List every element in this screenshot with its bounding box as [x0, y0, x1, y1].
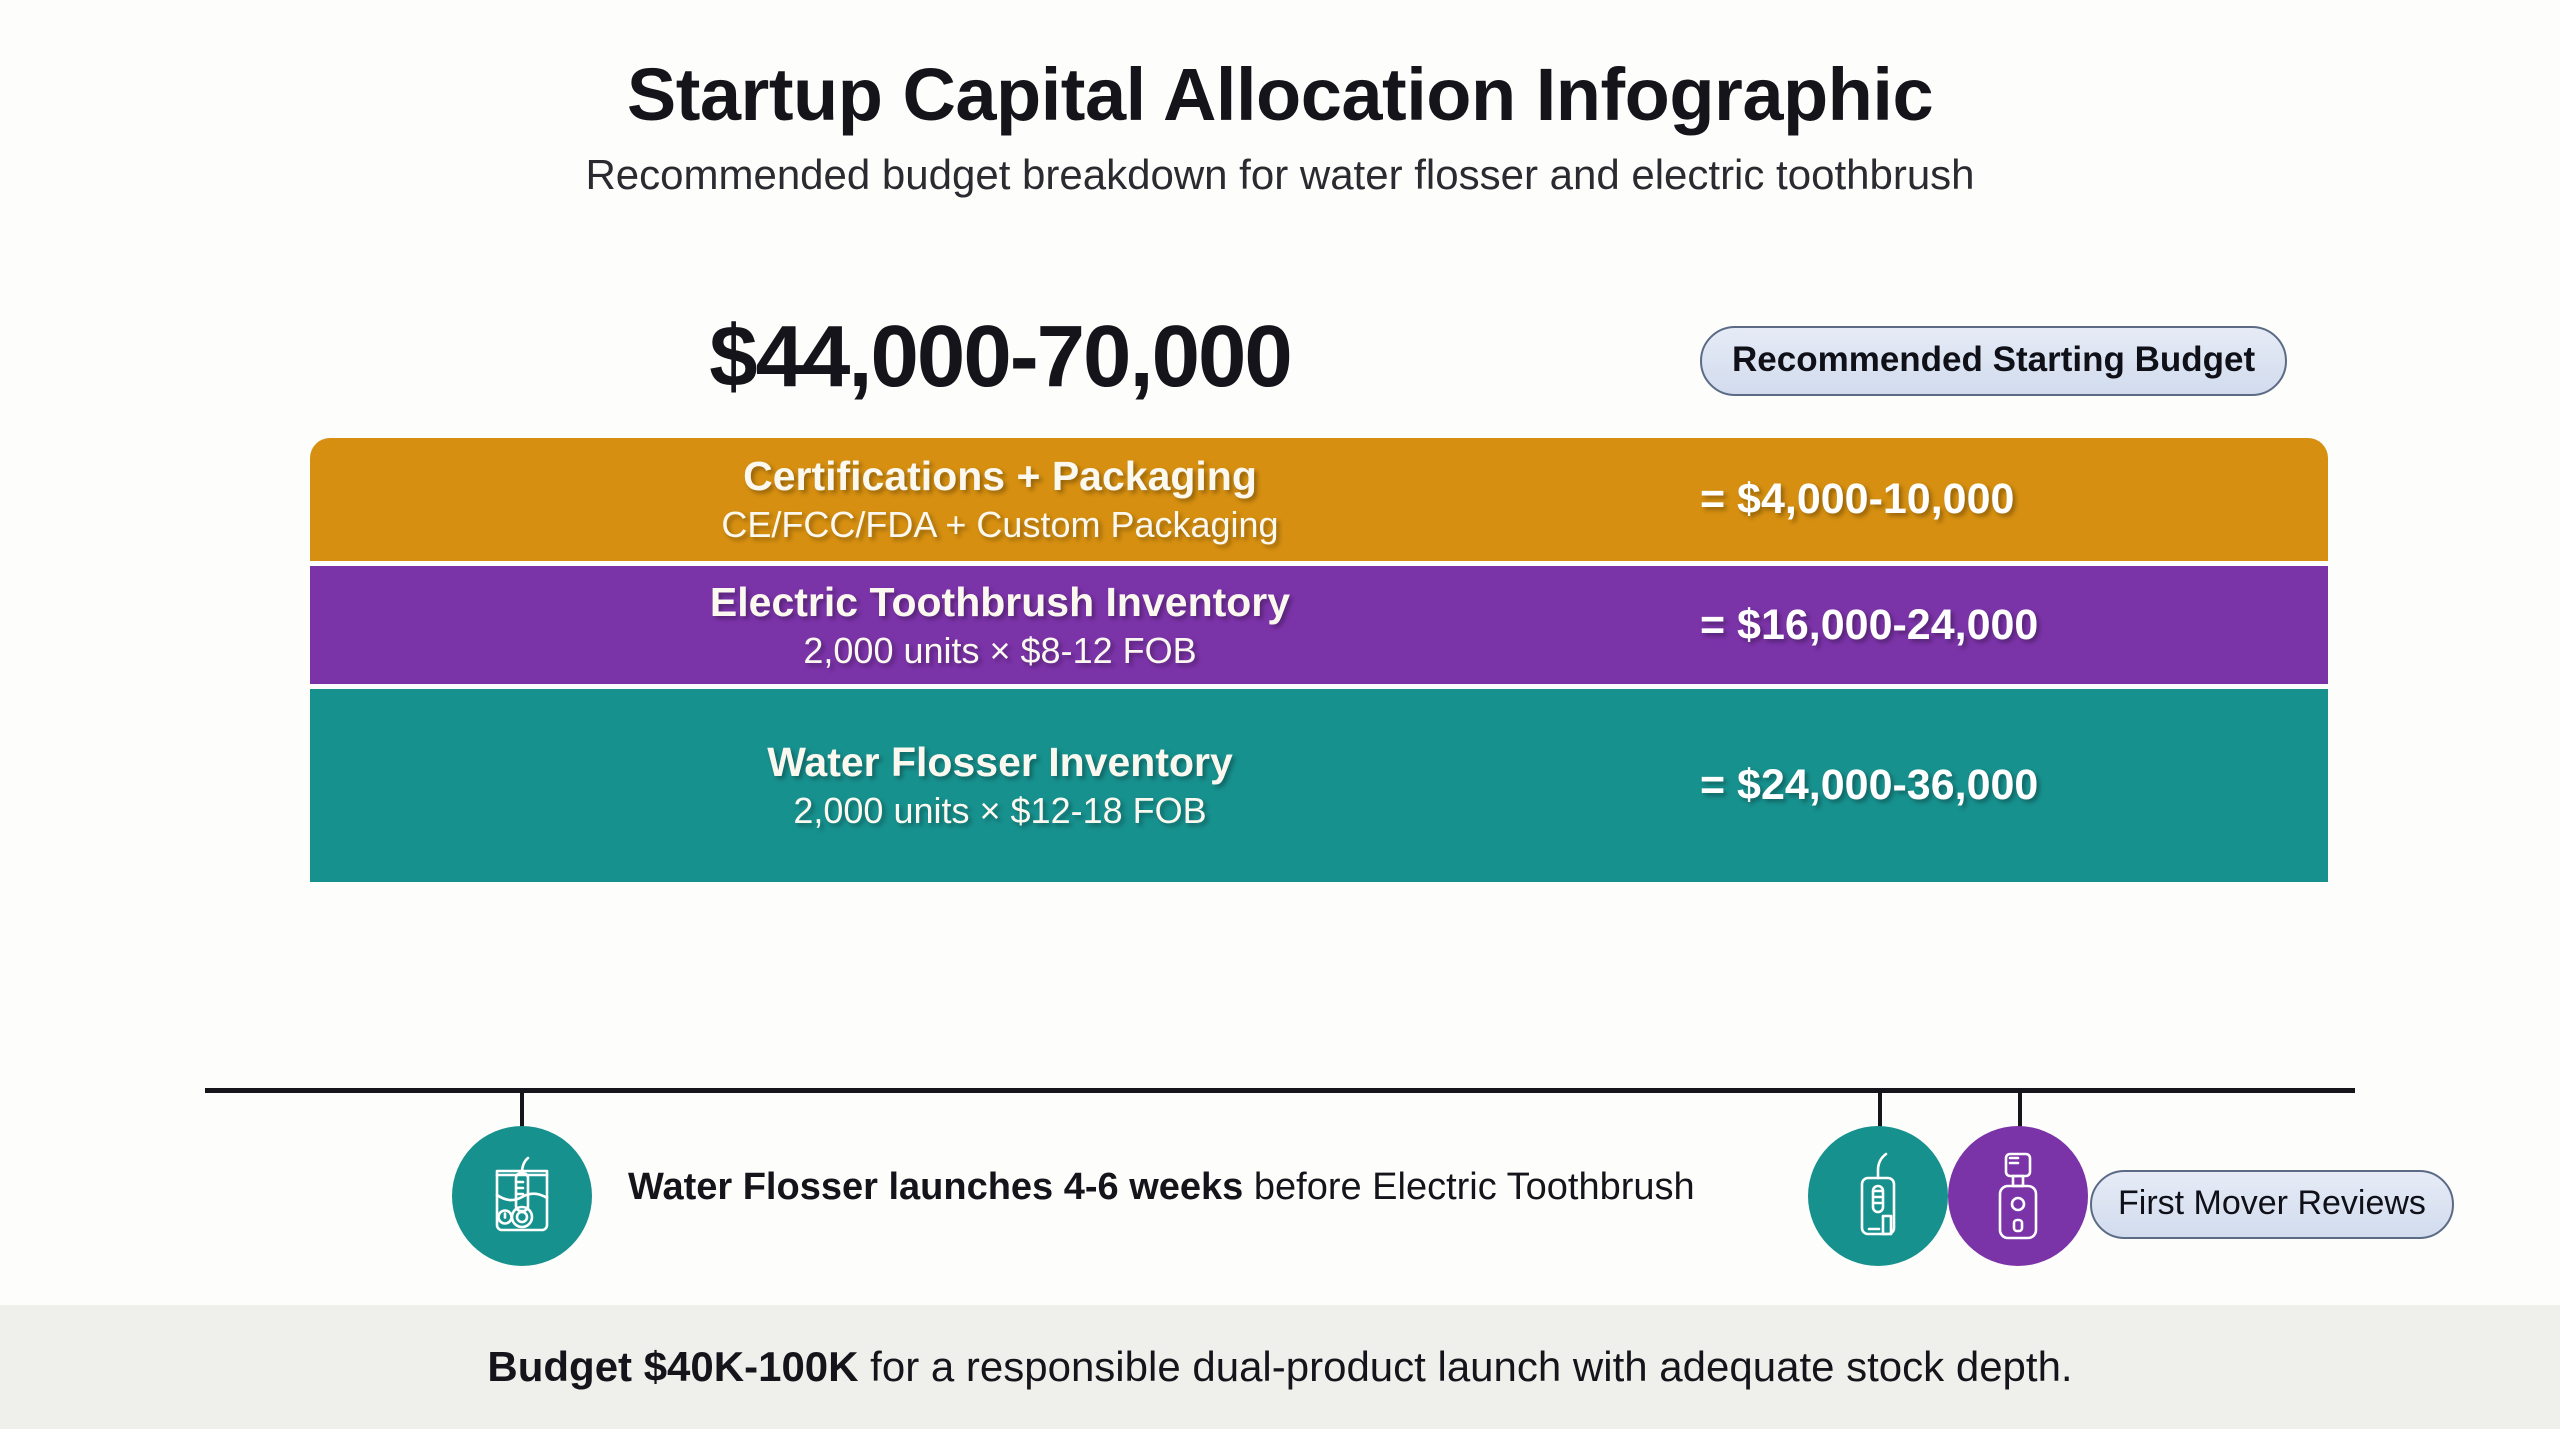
headline-row: $44,000-70,000 Recommended Starting Budg…: [310, 315, 2328, 420]
node-water-flosser-cordless[interactable]: [1808, 1126, 1948, 1266]
first-mover-reviews-badge: First Mover Reviews: [2090, 1170, 2454, 1239]
timeline-tick-water-flosser: [520, 1090, 524, 1128]
recommended-starting-budget-badge: Recommended Starting Budget: [1700, 326, 2287, 396]
timeline-baseline: [205, 1088, 2355, 1093]
timeline-tick-electric-toothbrush: [2018, 1090, 2022, 1128]
electric-toothbrush-icon: [1989, 1146, 2047, 1246]
band-value: = $16,000-24,000: [1700, 566, 2038, 684]
page-subtitle: Recommended budget breakdown for water f…: [0, 132, 2560, 196]
allocation-band-stack: Certifications + PackagingCE/FCC/FDA + C…: [310, 438, 2328, 887]
total-budget-value: $44,000-70,000: [310, 313, 1690, 400]
timeline-tick-cordless-flosser: [1878, 1090, 1882, 1128]
band-title: Certifications + Packaging: [743, 452, 1257, 500]
footer-bar: Budget $40K-100K for a responsible dual-…: [0, 1305, 2560, 1429]
timeline-caption-bold: Water Flosser launches 4-6 weeks: [628, 1166, 1243, 1208]
water-flosser-cordless-icon: [1849, 1150, 1907, 1242]
band-subtitle: 2,000 units × $8-12 FOB: [803, 626, 1196, 672]
band-value: = $4,000-10,000: [1700, 438, 2014, 561]
band-subtitle: 2,000 units × $12-18 FOB: [793, 786, 1206, 832]
footer-text-bold: Budget $40K-100K: [487, 1343, 858, 1390]
band-label-group: Certifications + PackagingCE/FCC/FDA + C…: [310, 438, 1690, 561]
node-water-flosser-countertop[interactable]: [452, 1126, 592, 1266]
allocation-band: Water Flosser Inventory2,000 units × $12…: [310, 689, 2328, 882]
footer-text-rest: for a responsible dual-product launch wi…: [859, 1343, 2073, 1390]
allocation-band: Certifications + PackagingCE/FCC/FDA + C…: [310, 438, 2328, 561]
band-value: = $24,000-36,000: [1700, 689, 2038, 882]
footer-text: Budget $40K-100K for a responsible dual-…: [487, 1346, 2072, 1388]
band-title: Water Flosser Inventory: [767, 738, 1233, 786]
water-flosser-countertop-icon: [485, 1155, 559, 1237]
node-electric-toothbrush[interactable]: [1948, 1126, 2088, 1266]
band-label-group: Water Flosser Inventory2,000 units × $12…: [310, 689, 1690, 882]
timeline-caption: Water Flosser launches 4-6 weeks before …: [628, 1168, 1695, 1206]
header: Startup Capital Allocation Infographic R…: [0, 0, 2560, 196]
band-label-group: Electric Toothbrush Inventory2,000 units…: [310, 566, 1690, 684]
band-title: Electric Toothbrush Inventory: [710, 578, 1290, 626]
allocation-band: Electric Toothbrush Inventory2,000 units…: [310, 566, 2328, 684]
timeline-caption-rest: before Electric Toothbrush: [1243, 1166, 1694, 1208]
band-subtitle: CE/FCC/FDA + Custom Packaging: [721, 500, 1278, 546]
page-title: Startup Capital Allocation Infographic: [0, 0, 2560, 132]
